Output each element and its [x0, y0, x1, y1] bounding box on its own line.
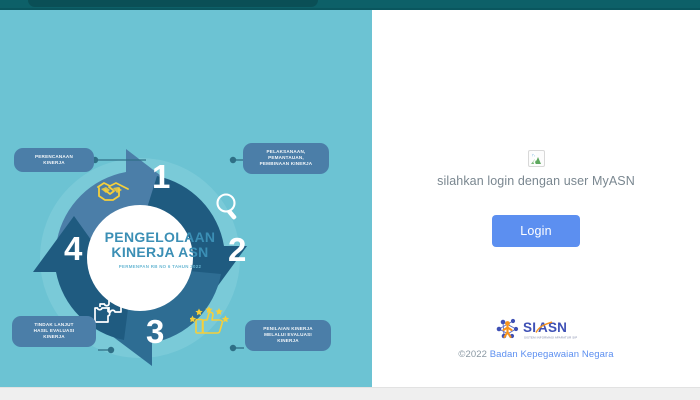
copyright-year: ©2022	[458, 349, 487, 360]
callout-tindak-lanjut: TINDAK LANJUT HASIL EVALUASI KINERJA	[12, 316, 96, 347]
login-page: 1 2 3 4 PENGELOLAAN KINERJA ASN PERMENPA…	[0, 0, 700, 400]
login-panel: silahkan login dengan user MyASN Login	[372, 10, 700, 388]
copyright-text: ©2022 Badan Kepegawaian Negara	[372, 349, 700, 360]
login-caption: silahkan login dengan user MyASN	[372, 174, 700, 188]
step-number-1: 1	[152, 160, 170, 193]
handshake-icon	[96, 178, 130, 209]
callout-penilaian-kinerja: PENILAIAN KINERJA MELALUI EVALUASI KINER…	[245, 320, 331, 351]
horizontal-scrollbar-track[interactable]	[0, 387, 700, 400]
login-button[interactable]: Login	[492, 215, 580, 247]
siasn-logo-mark	[497, 319, 518, 338]
callout-1-line-2: KINERJA	[19, 160, 89, 166]
window-title-bar	[0, 0, 700, 10]
callout-3-line-3: KINERJA	[250, 338, 326, 344]
copyright-org: Badan Kepegawaian Negara	[490, 349, 614, 360]
illustration-panel: 1 2 3 4 PENGELOLAAN KINERJA ASN PERMENPA…	[0, 10, 372, 388]
thumbs-up-stars-icon	[190, 305, 232, 340]
step-number-3: 3	[146, 315, 164, 348]
login-form: silahkan login dengan user MyASN Login	[372, 150, 700, 247]
puzzle-icon	[92, 295, 124, 330]
svg-text:SISTEM INFORMASI APARATUR SIPI: SISTEM INFORMASI APARATUR SIPIL NEGARA	[524, 335, 577, 339]
browser-tab[interactable]	[28, 0, 318, 7]
magnifier-icon	[214, 192, 242, 227]
step-number-4: 4	[64, 232, 82, 265]
callout-2-line-3: PEMBINAAN KINERJA	[248, 161, 324, 167]
broken-image-icon	[528, 150, 545, 167]
title-bar-underline	[0, 8, 700, 10]
siasn-logo: SI ASN SISTEM INFORMASI APARATUR SIPIL N…	[495, 318, 577, 340]
step-number-2: 2	[228, 233, 246, 266]
svg-text:ASN: ASN	[538, 320, 567, 335]
svg-text:SI: SI	[523, 320, 536, 335]
siasn-logo-text: SI ASN SISTEM INFORMASI APARATUR SIPIL N…	[523, 320, 577, 339]
callout-pelaksanaan-pemantauan: PELAKSANAAN, PEMANTAUAN, PEMBINAAN KINER…	[243, 143, 329, 174]
footer-brand: SI ASN SISTEM INFORMASI APARATUR SIPIL N…	[372, 318, 700, 360]
callout-4-line-3: KINERJA	[17, 334, 91, 340]
callout-perencanaan-kinerja: PERENCANAAN KINERJA	[14, 148, 94, 172]
